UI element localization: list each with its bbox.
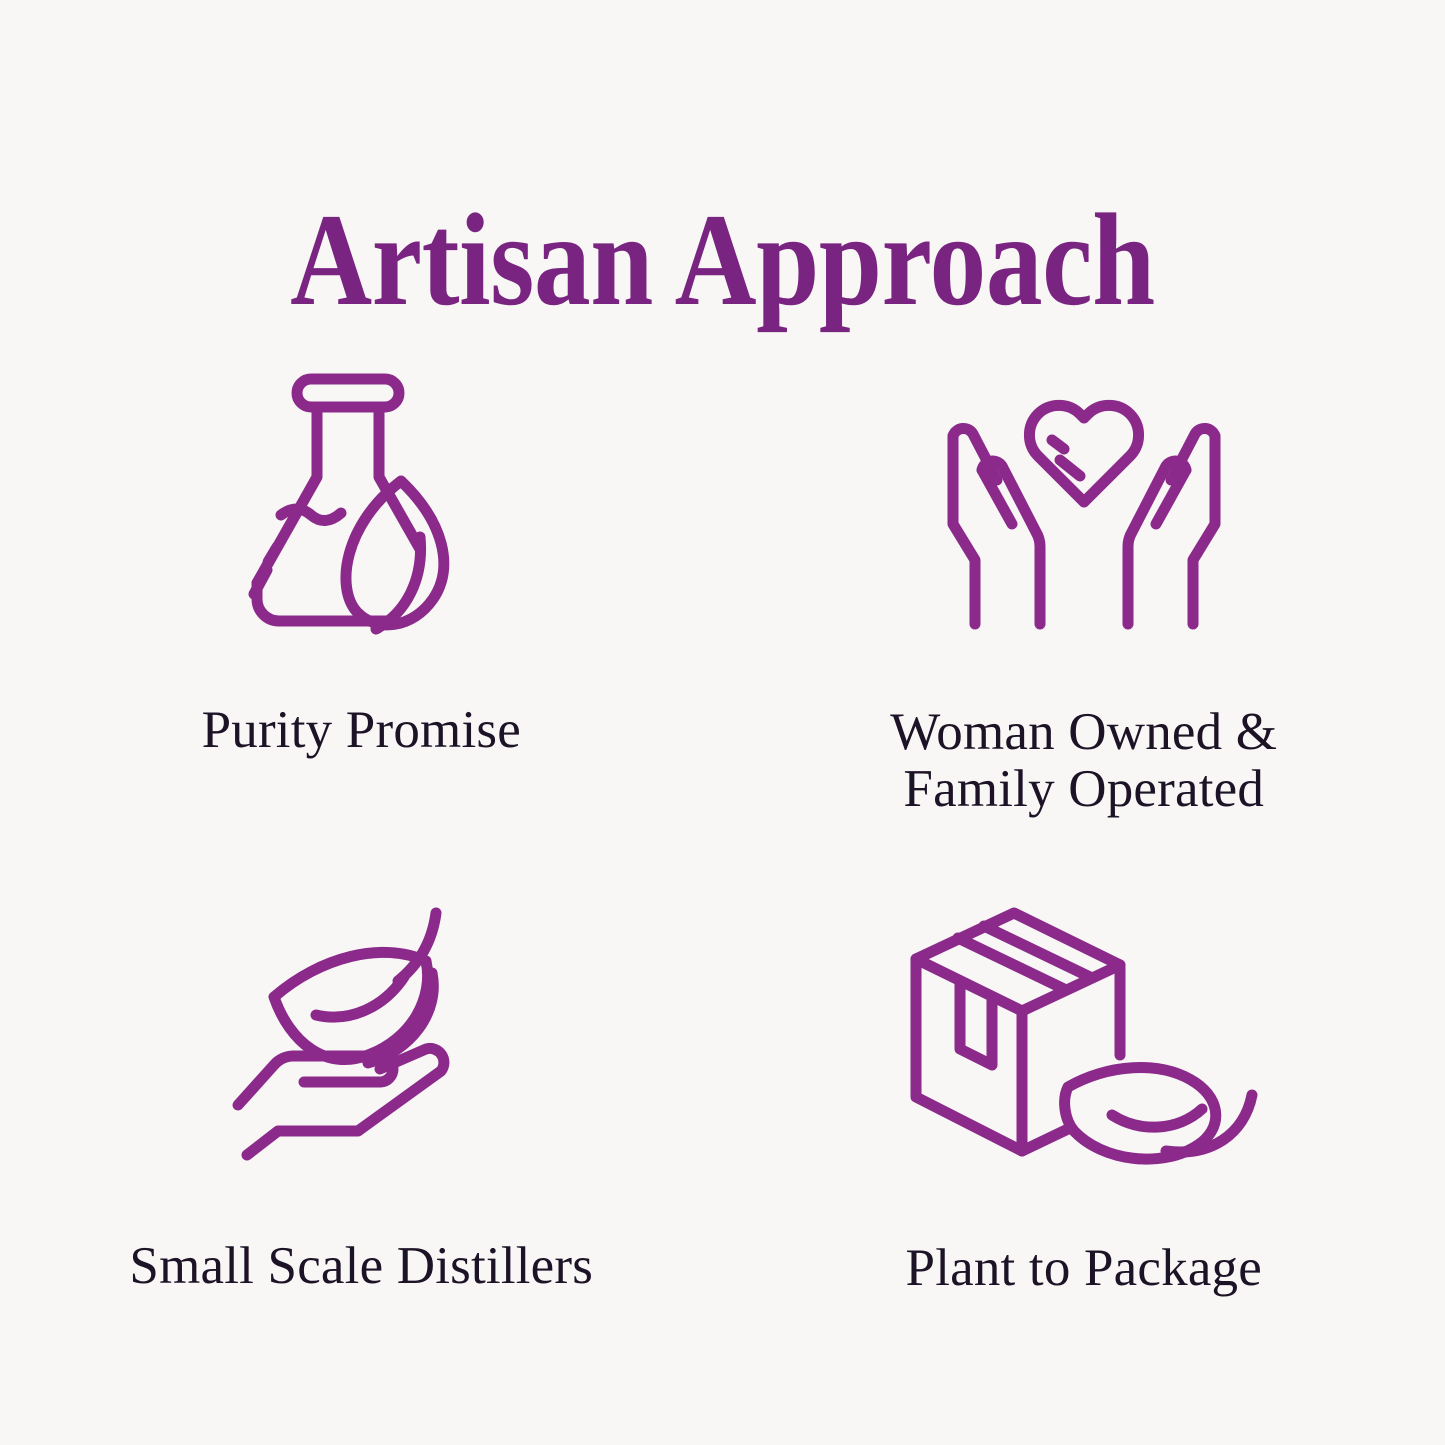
box-leaf-icon	[906, 860, 1262, 1182]
feature-item-purity-promise: Purity Promise	[0, 330, 723, 860]
feature-label: Small Scale Distillers	[129, 1238, 593, 1295]
feature-item-plant-to-package: Plant to Package	[723, 860, 1445, 1390]
feature-label: Purity Promise	[202, 702, 521, 759]
feature-label: Woman Owned & Family Operated	[890, 704, 1277, 818]
feature-item-small-scale-distillers: Small Scale Distillers	[0, 860, 723, 1390]
hands-heart-icon-svg	[934, 378, 1234, 646]
hand-leaf-icon-svg	[230, 905, 492, 1155]
box-leaf-icon-svg	[906, 907, 1262, 1157]
feature-item-woman-owned: Woman Owned & Family Operated	[723, 330, 1445, 860]
feature-grid: Purity Promise	[0, 330, 1445, 1390]
artisan-approach-infographic: Artisan Approach	[0, 0, 1445, 1445]
page-title: Artisan Approach	[101, 194, 1344, 326]
hands-heart-icon	[934, 330, 1234, 662]
flask-leaf-icon-svg	[235, 365, 487, 655]
feature-label: Plant to Package	[906, 1240, 1262, 1297]
flask-leaf-icon	[235, 330, 487, 660]
hand-leaf-icon	[230, 860, 492, 1180]
